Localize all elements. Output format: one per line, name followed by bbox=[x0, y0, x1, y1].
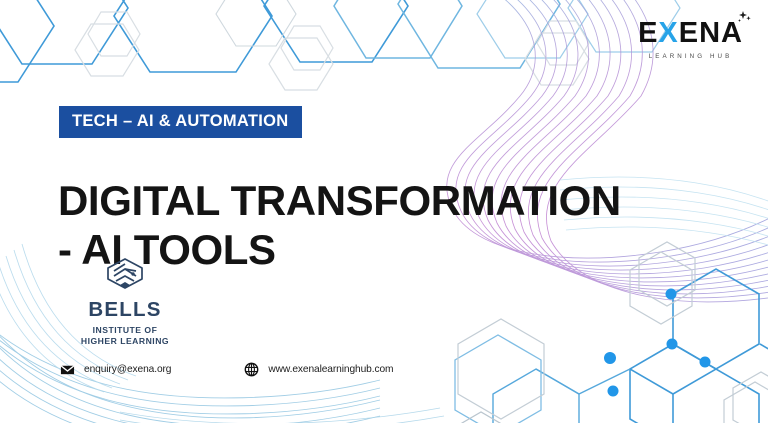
exena-letter-e: E bbox=[638, 17, 658, 49]
bells-hexagon-icon bbox=[103, 257, 147, 297]
partner-name: BELLS bbox=[60, 300, 190, 321]
envelope-icon bbox=[60, 362, 75, 377]
partner-logo: BELLS INSTITUTE OF HIGHER LEARNING bbox=[60, 257, 190, 348]
category-badge: TECH – AI & AUTOMATION bbox=[59, 106, 302, 138]
promo-banner: EXENA LEARNING HUB TECH – AI & AUTOMATIO… bbox=[0, 0, 768, 423]
sparkle-icon bbox=[734, 10, 752, 26]
contact-website[interactable]: www.exenalearninghub.com bbox=[244, 362, 393, 377]
email-text: enquiry@exena.org bbox=[84, 364, 171, 375]
globe-icon bbox=[244, 362, 259, 377]
exena-tagline: LEARNING HUB bbox=[638, 53, 743, 60]
exena-logo: EXENA LEARNING HUB bbox=[638, 19, 743, 60]
partner-tagline: INSTITUTE OF HIGHER LEARNING bbox=[60, 325, 190, 348]
website-text: www.exenalearninghub.com bbox=[268, 364, 393, 375]
contact-email[interactable]: enquiry@exena.org bbox=[60, 362, 171, 377]
exena-letter-x: X bbox=[658, 17, 678, 49]
exena-wordmark: EXENA bbox=[638, 19, 743, 48]
contact-footer: enquiry@exena.org www.exenalearninghub.c… bbox=[60, 362, 393, 377]
